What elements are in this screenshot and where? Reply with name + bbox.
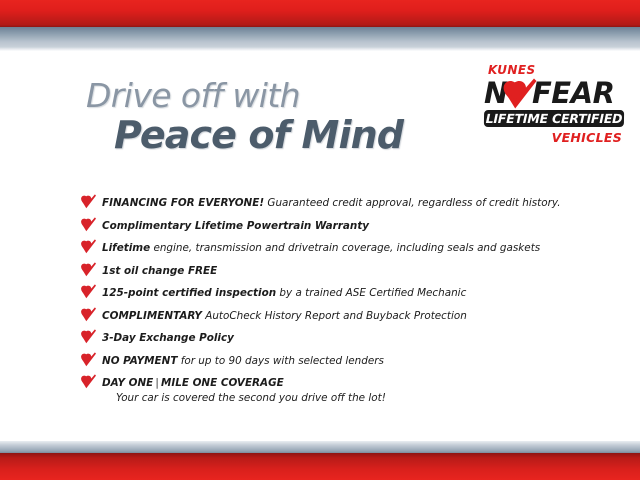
heart-check-icon: [80, 307, 96, 322]
benefit-bold-7: NO PAYMENT: [102, 355, 177, 367]
heart-check-icon: [80, 374, 96, 389]
list-item: NO PAYMENT for up to 90 days with select…: [80, 351, 580, 369]
logo-wordmark: N FEAR: [484, 78, 624, 108]
benefit-text-3: 1st oil change FREE: [102, 265, 217, 277]
benefit-text-2: Lifetime engine, transmission and drivet…: [102, 242, 540, 254]
benefit-rest-7: for up to 90 days with selected lenders: [177, 355, 384, 367]
logo-certified-bar: LIFETIME CERTIFIED: [484, 110, 624, 127]
kunes-no-fear-logo: KUNES N FEAR LIFETIME CERTIFIED VEHICLES: [484, 64, 624, 145]
heart-check-icon: [80, 284, 96, 299]
benefit-text-5: COMPLIMENTARY AutoCheck History Report a…: [102, 310, 467, 322]
benefit-text-8: DAY ONE|MILE ONE COVERAGE: [102, 377, 284, 389]
heart-check-icon: [80, 262, 96, 277]
benefit-text-6: 3-Day Exchange Policy: [102, 332, 234, 344]
benefit-bold2-8: MILE ONE COVERAGE: [161, 377, 284, 389]
heart-check-icon: [80, 329, 96, 344]
headline-block: Drive off with Peace of Mind: [86, 78, 466, 156]
benefit-text-7: NO PAYMENT for up to 90 days with select…: [102, 355, 384, 367]
benefit-rest-0: Guaranteed credit approval, regardless o…: [264, 197, 560, 209]
list-item-body: COMPLIMENTARY AutoCheck History Report a…: [102, 306, 580, 324]
benefit-rest-2: engine, transmission and drivetrain cove…: [150, 242, 540, 254]
list-item-body: 3-Day Exchange Policy: [102, 328, 580, 346]
list-item: 3-Day Exchange Policy: [80, 328, 580, 346]
top-red-band: [0, 0, 640, 27]
list-item: 125-point certified inspection by a trai…: [80, 283, 580, 301]
benefit-bold-8: DAY ONE: [102, 377, 153, 389]
heart-check-icon: [80, 217, 96, 232]
list-item-body: NO PAYMENT for up to 90 days with select…: [102, 351, 580, 369]
benefit-text-0: FINANCING FOR EVERYONE! Guaranteed credi…: [102, 197, 561, 209]
logo-word-fear: FEAR: [532, 78, 614, 108]
heart-check-icon: [80, 239, 96, 254]
list-item-body: Lifetime engine, transmission and drivet…: [102, 238, 580, 256]
benefit-text-4: 125-point certified inspection by a trai…: [102, 287, 466, 299]
benefit-separator-8: |: [153, 377, 161, 389]
list-item: DAY ONE|MILE ONE COVERAGE Your car is co…: [80, 373, 580, 406]
benefit-bold-0: FINANCING FOR EVERYONE!: [102, 197, 264, 209]
list-item-body: 125-point certified inspection by a trai…: [102, 283, 580, 301]
heart-check-icon: [80, 352, 96, 367]
benefit-bold-5: COMPLIMENTARY: [102, 310, 202, 322]
top-gray-band: [0, 27, 640, 51]
benefit-bold-3: 1st oil change FREE: [102, 265, 217, 277]
bottom-red-band: [0, 453, 640, 480]
logo-certified-text: LIFETIME CERTIFIED: [486, 111, 623, 126]
benefit-bold-6: 3-Day Exchange Policy: [102, 332, 234, 344]
benefit-text-1: Complimentary Lifetime Powertrain Warran…: [102, 220, 369, 232]
list-item: FINANCING FOR EVERYONE! Guaranteed credi…: [80, 193, 580, 211]
list-item-body: 1st oil change FREE: [102, 261, 580, 279]
benefit-bold-4: 125-point certified inspection: [102, 287, 276, 299]
benefit-bold-2: Lifetime: [102, 242, 150, 254]
benefit-rest-5: AutoCheck History Report and Buyback Pro…: [202, 310, 467, 322]
benefits-list: FINANCING FOR EVERYONE! Guaranteed credi…: [80, 193, 580, 411]
list-item-body: FINANCING FOR EVERYONE! Guaranteed credi…: [102, 193, 580, 211]
list-item: Complimentary Lifetime Powertrain Warran…: [80, 216, 580, 234]
list-item-body: Complimentary Lifetime Powertrain Warran…: [102, 216, 580, 234]
bottom-gray-band: [0, 441, 640, 453]
promo-banner: Drive off with Peace of Mind KUNES N FEA…: [0, 0, 640, 480]
list-item-body: DAY ONE|MILE ONE COVERAGE Your car is co…: [102, 373, 580, 406]
headline-line-2: Peace of Mind: [114, 114, 466, 156]
logo-footer-text: VEHICLES: [484, 130, 624, 145]
benefit-sub-8: Your car is covered the second you drive…: [116, 391, 580, 406]
list-item: Lifetime engine, transmission and drivet…: [80, 238, 580, 256]
list-item: 1st oil change FREE: [80, 261, 580, 279]
list-item: COMPLIMENTARY AutoCheck History Report a…: [80, 306, 580, 324]
benefit-bold-1: Complimentary Lifetime Powertrain Warran…: [102, 220, 369, 232]
headline-line-1: Drive off with: [86, 78, 466, 114]
benefit-rest-4: by a trained ASE Certified Mechanic: [276, 287, 466, 299]
heart-check-icon: [80, 194, 96, 209]
